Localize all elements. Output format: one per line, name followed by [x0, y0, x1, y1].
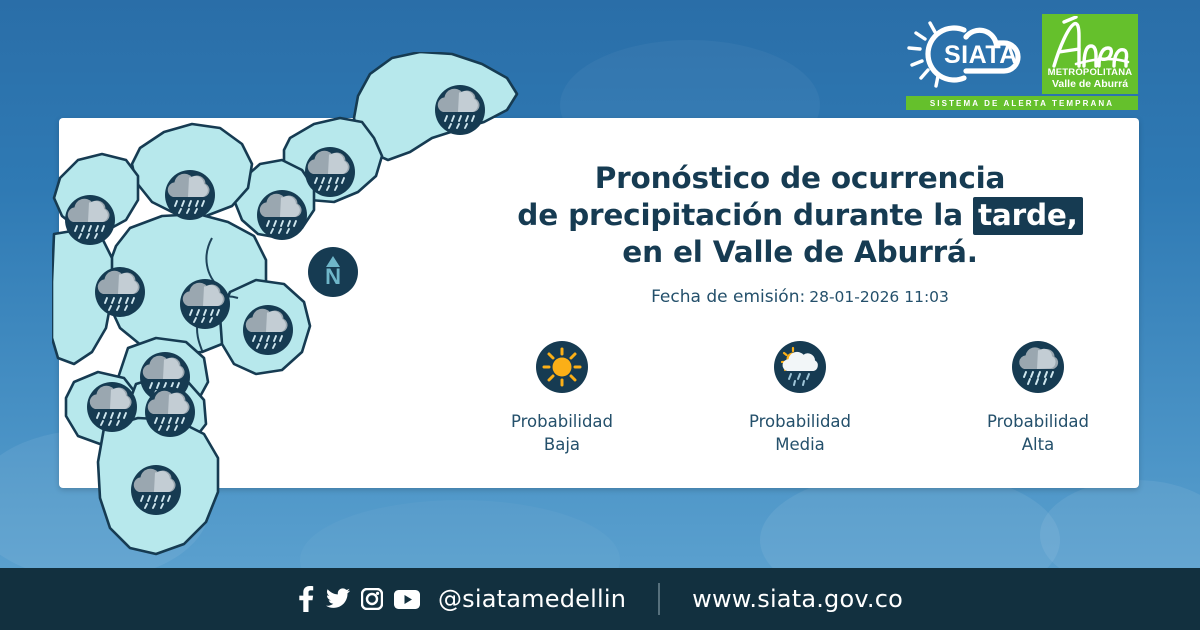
area-script-icon [1046, 16, 1134, 72]
forecast-content: Pronóstico de ocurrencia de precipitació… [480, 160, 1120, 456]
marker-medellin[interactable] [180, 279, 230, 329]
legend-alta-line1: Probabilidad [963, 410, 1113, 433]
social-handle[interactable]: @siatamedellin [438, 585, 626, 613]
marker-girardota[interactable] [305, 147, 355, 197]
instagram-icon[interactable] [361, 588, 383, 610]
marker-envigado[interactable] [243, 305, 293, 355]
legend-media-line2: Media [725, 433, 875, 456]
tagline-banner: SISTEMA DE ALERTA TEMPRANA [906, 96, 1138, 110]
map-svg: N [52, 52, 522, 562]
compass-label: N [325, 264, 341, 289]
cloud-rain-icon [1012, 341, 1064, 393]
issue-value: 28-01-2026 11:03 [809, 288, 949, 306]
legend-label-media: Probabilidad Media [725, 410, 875, 456]
issue-label: Fecha de emisión: [651, 287, 805, 307]
siata-logo-icon: SIATA [906, 18, 1038, 90]
legend-label-alta: Probabilidad Alta [963, 410, 1113, 456]
facebook-icon[interactable] [297, 586, 315, 612]
legend-baja-line1: Probabilidad [487, 410, 637, 433]
marker-barbosa[interactable] [435, 85, 485, 135]
area-metropolitana-logo: METROPOLITANA Valle de Aburrá [1042, 14, 1138, 94]
marker-bello[interactable] [165, 170, 215, 220]
marker-san-jeronimo[interactable] [95, 267, 145, 317]
title-line-2-text: de precipitación durante la [517, 198, 963, 232]
social-links [297, 586, 420, 612]
legend-label-baja: Probabilidad Baja [487, 410, 637, 456]
twitter-icon[interactable] [326, 588, 350, 610]
marker-copacabana[interactable] [257, 190, 307, 240]
website-url[interactable]: www.siata.gov.co [692, 585, 903, 613]
footer-divider [658, 583, 660, 615]
marker-caldas[interactable] [131, 465, 181, 515]
brand-logos: SIATA METROPOLITANA Valle de Aburrá SIST… [906, 14, 1138, 110]
marker-san-pedro[interactable] [65, 195, 115, 245]
tagline-text: SISTEMA DE ALERTA TEMPRANA [930, 99, 1114, 108]
marker-sabaneta[interactable] [87, 382, 137, 432]
page-title: Pronóstico de ocurrencia de precipitació… [480, 160, 1120, 271]
sun-cloud-rain-icon [774, 341, 826, 393]
marker-la-estrella[interactable] [145, 387, 195, 437]
legend-baja-line2: Baja [487, 433, 637, 456]
issue-datetime: Fecha de emisión:28-01-2026 11:03 [480, 287, 1120, 307]
legend-item-baja[interactable]: Probabilidad Baja [487, 341, 637, 456]
siata-wordmark: SIATA [944, 41, 1018, 69]
valle-de-aburra-map: N [52, 52, 522, 562]
title-highlight-period: tarde, [973, 197, 1083, 235]
footer-bar: @siatamedellin www.siata.gov.co [0, 568, 1200, 630]
legend-item-media[interactable]: Probabilidad Media [725, 341, 875, 456]
legend-alta-line2: Alta [963, 433, 1113, 456]
sun-icon [536, 341, 588, 393]
infographic-canvas: SIATA METROPOLITANA Valle de Aburrá SIST… [0, 0, 1200, 630]
probability-legend: Probabilidad Baja [480, 341, 1120, 456]
legend-media-line1: Probabilidad [725, 410, 875, 433]
area-line2: Valle de Aburrá [1052, 78, 1128, 90]
youtube-icon[interactable] [394, 590, 420, 609]
title-line-2: de precipitación durante la tarde, [480, 197, 1120, 234]
title-line-1: Pronóstico de ocurrencia [480, 160, 1120, 197]
legend-item-alta[interactable]: Probabilidad Alta [963, 341, 1113, 456]
compass-rose: N [308, 247, 358, 297]
title-line-3: en el Valle de Aburrá. [480, 234, 1120, 271]
